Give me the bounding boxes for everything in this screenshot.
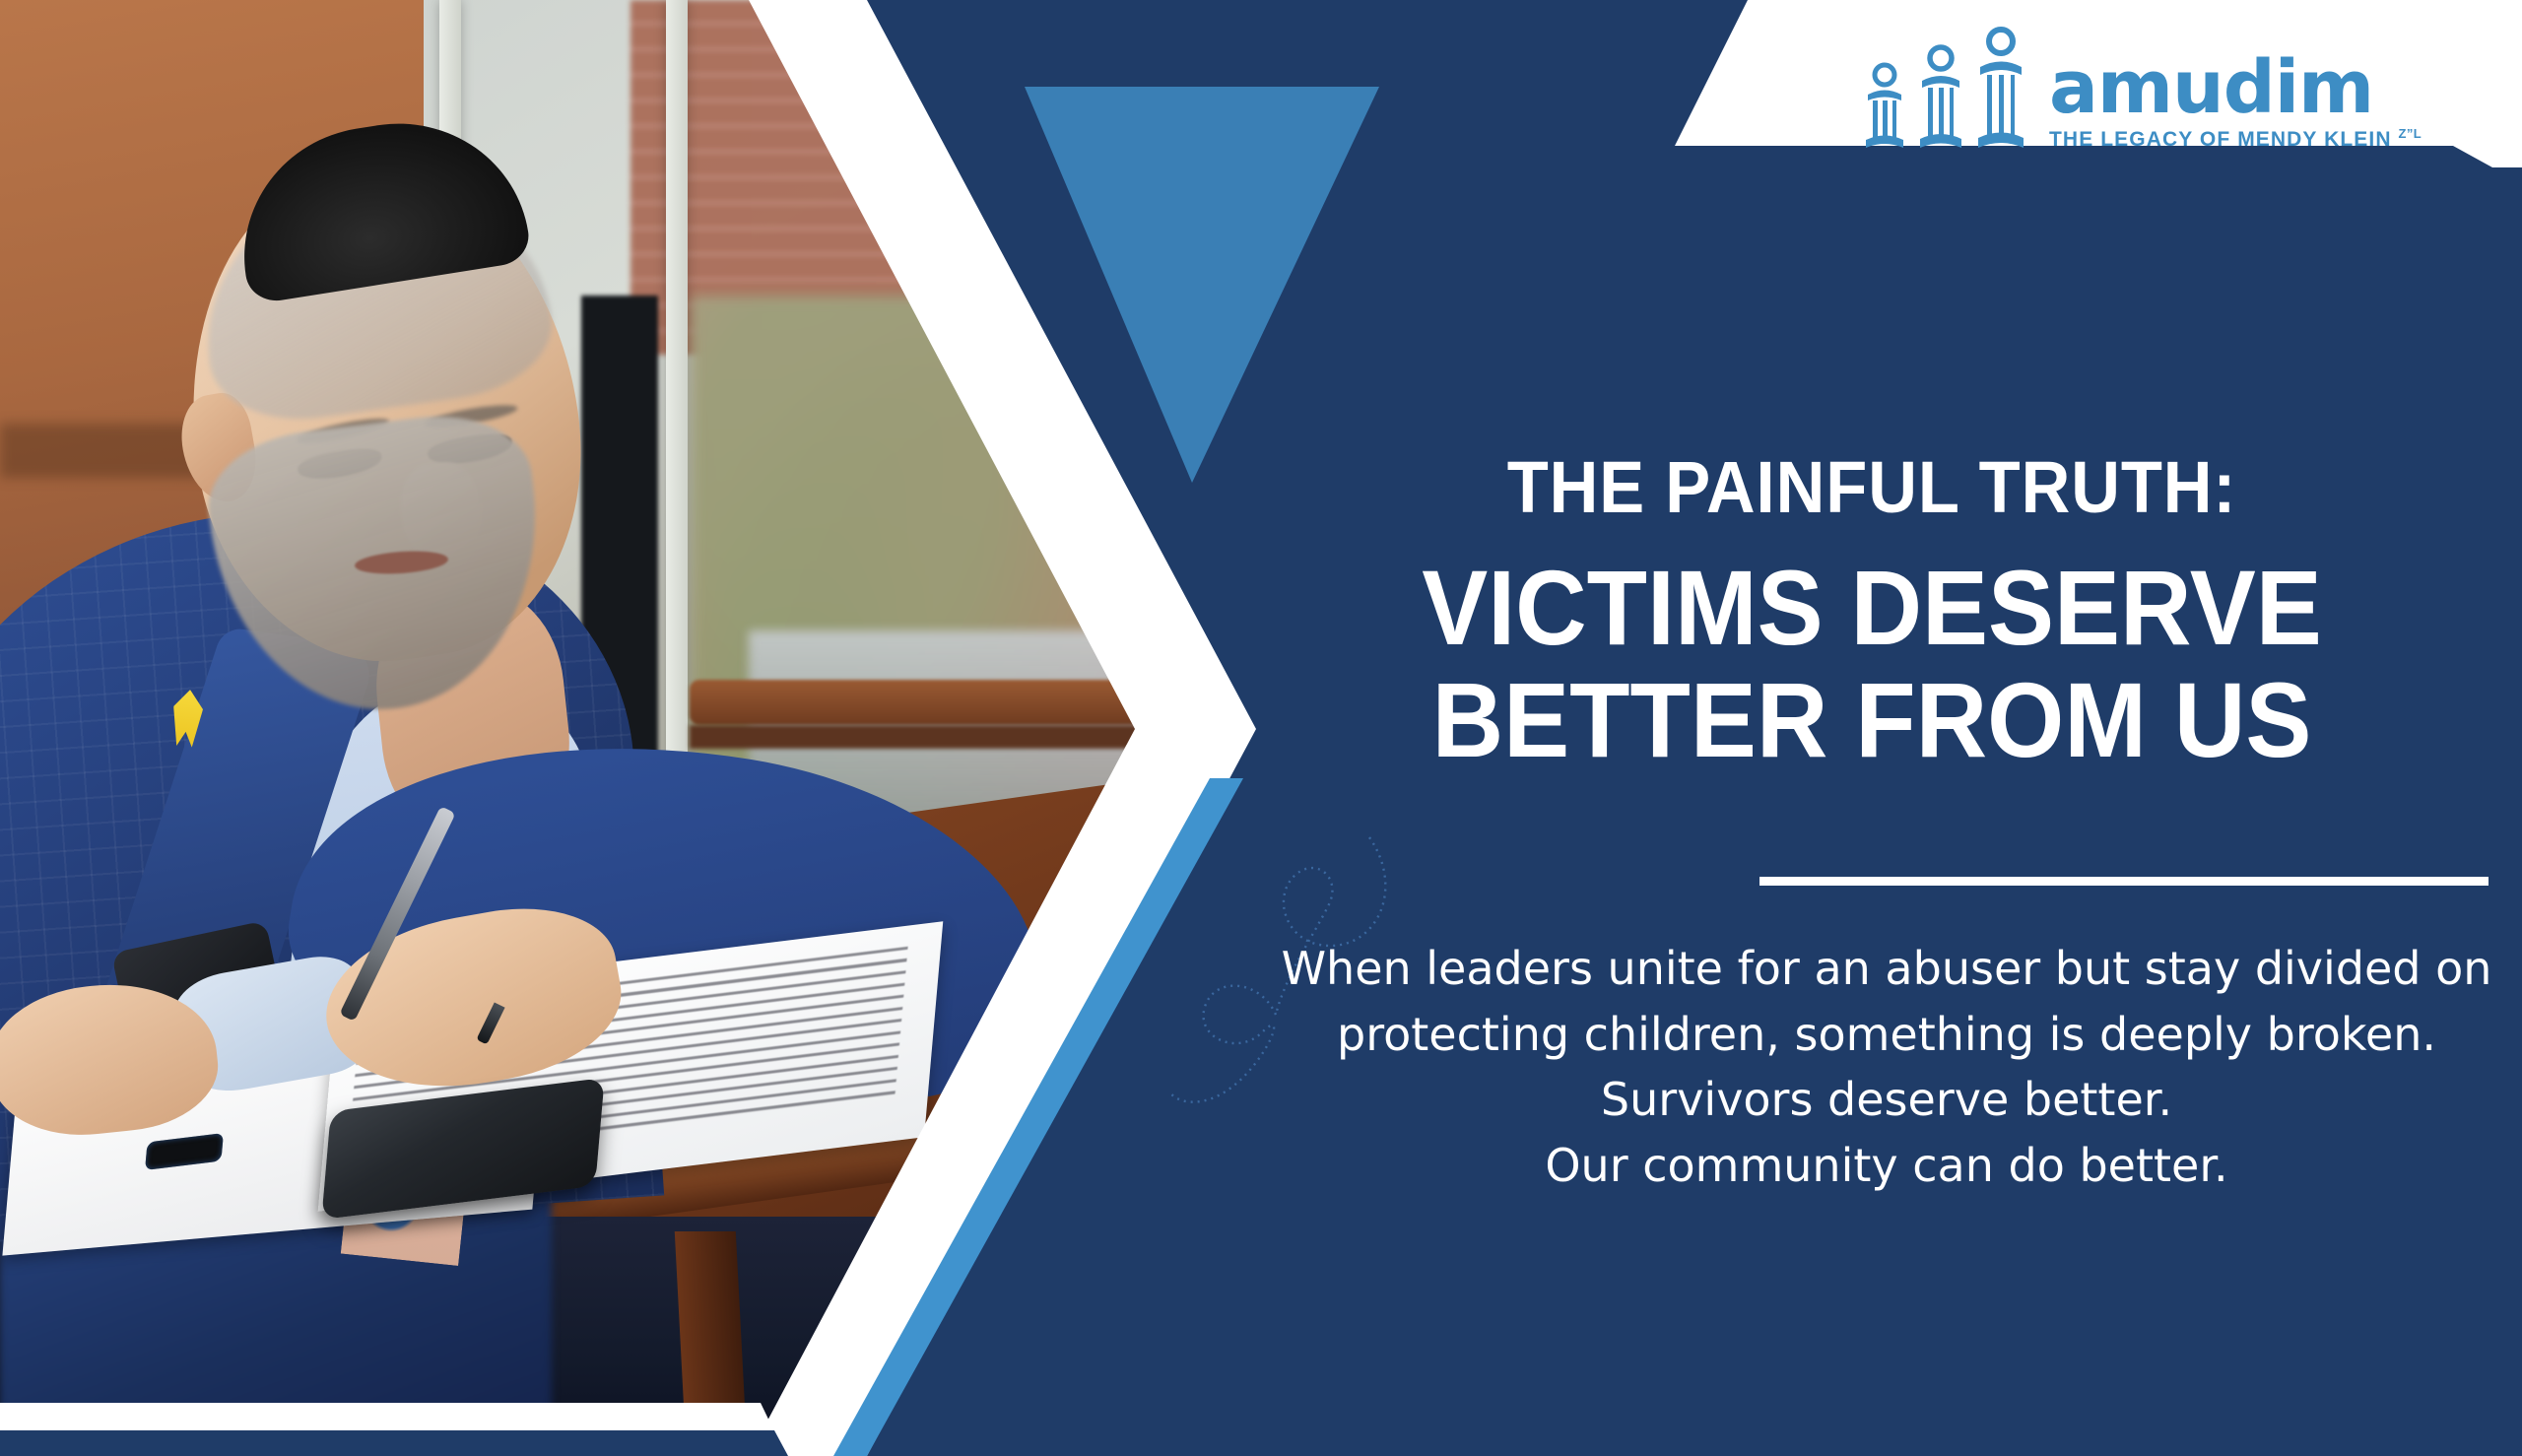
social-graphic-canvas: amudim THE LEGACY OF MENDY KLEIN Z”L THE… [0,0,2522,1456]
body-line-3: Survivors deserve better. [1281,1067,2492,1133]
headline-line-2: BETTER FROM US [1303,664,2439,776]
body-copy: When leaders unite for an abuser but sta… [1281,936,2492,1199]
hero-photo [0,0,1192,1456]
headline-line-1: VICTIMS DESERVE [1303,552,2439,664]
headline-main: VICTIMS DESERVE BETTER FROM US [1303,552,2439,777]
headline-divider [1759,877,2489,886]
headline-eyebrow: THE PAINFUL TRUTH: [1303,445,2439,529]
body-line-4: Our community can do better. [1281,1133,2492,1199]
message-panel: THE PAINFUL TRUTH: VICTIMS DESERVE BETTE… [1261,0,2522,1456]
desk-leg [675,1231,746,1428]
window-sill-shadow [690,725,1192,749]
window-sill [690,680,1192,725]
body-line-1: When leaders unite for an abuser but sta… [1281,936,2492,1002]
photo-scene [0,0,1192,1456]
body-line-2: protecting children, something is deeply… [1281,1002,2492,1068]
